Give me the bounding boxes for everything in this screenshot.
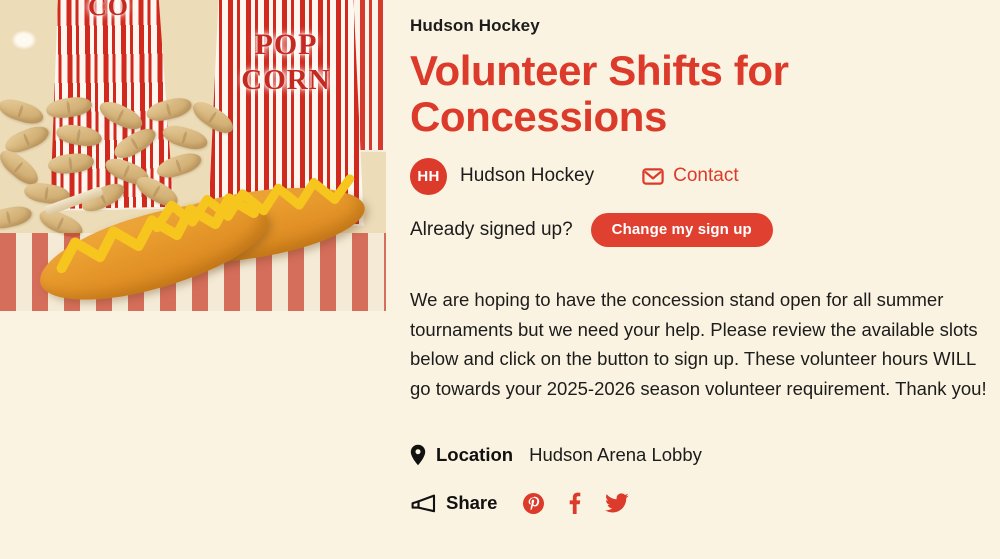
megaphone-icon — [410, 493, 436, 513]
contact-label: Contact — [673, 165, 738, 187]
concessions-photo: CO POP CORN — [0, 0, 386, 311]
org-eyebrow: Hudson Hockey — [410, 16, 992, 36]
page-title: Volunteer Shifts for Concessions — [410, 48, 830, 140]
popcorn-box-text-line2: CORN — [210, 64, 362, 97]
change-my-sign-up-button[interactable]: Change my sign up — [591, 213, 773, 247]
location-value: Hudson Arena Lobby — [529, 444, 702, 466]
event-description: We are hoping to have the concession sta… — [410, 285, 992, 405]
organizer-name: Hudson Hockey — [460, 165, 594, 187]
content-column: Hudson Hockey Volunteer Shifts for Conce… — [386, 0, 1000, 514]
popcorn-box-text-partial: CO — [48, 0, 169, 23]
contact-link[interactable]: Contact — [642, 165, 738, 187]
twitter-icon[interactable] — [605, 493, 629, 513]
share-label: Share — [446, 492, 497, 514]
location-row: Location Hudson Arena Lobby — [410, 444, 992, 466]
organizer-row: HH Hudson Hockey Contact — [410, 158, 992, 195]
map-pin-icon — [410, 444, 426, 466]
avatar: HH — [410, 158, 447, 195]
pinterest-icon[interactable] — [523, 493, 544, 514]
location-label: Location — [436, 444, 513, 466]
popcorn-box-text-line1: POP — [210, 28, 362, 62]
facebook-icon[interactable] — [568, 492, 581, 514]
already-signed-up-row: Already signed up? Change my sign up — [410, 213, 992, 247]
already-signed-up-label: Already signed up? — [410, 219, 573, 241]
signup-page: CO POP CORN — [0, 0, 1000, 559]
share-row: Share — [410, 492, 992, 514]
hero-image: CO POP CORN — [0, 0, 386, 311]
envelope-icon — [642, 168, 664, 185]
